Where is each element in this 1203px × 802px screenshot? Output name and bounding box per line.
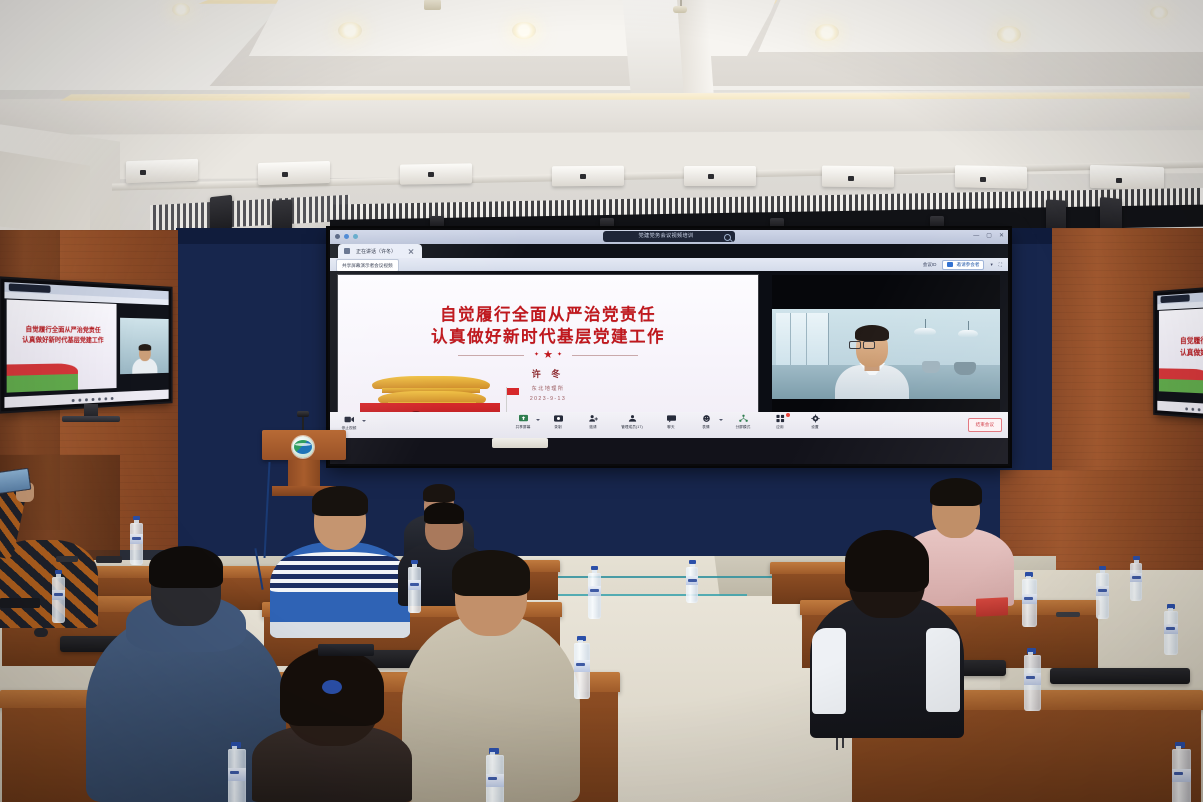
participant-video-frame bbox=[772, 309, 1000, 399]
toolbar-item-record[interactable]: 录制 bbox=[545, 414, 571, 430]
toolbar-item-apps[interactable]: 应用 bbox=[767, 414, 793, 430]
minimize-icon[interactable]: — bbox=[973, 232, 979, 240]
invite-participants-button[interactable]: 邀请参会者 bbox=[942, 260, 984, 270]
laptop bbox=[318, 644, 374, 656]
conference-room-photo: 党建党务会议视频培训 — ▢ ✕ 正在讲话（许冬） 共享屏幕 bbox=[0, 0, 1203, 802]
tiananmen-illustration bbox=[7, 363, 78, 392]
toolbar-label: 管理成员(17) bbox=[621, 425, 643, 430]
participant-video-tile[interactable]: 许 冬 bbox=[772, 275, 1000, 433]
toolbar-item-invite[interactable]: 邀请 bbox=[580, 414, 606, 430]
toolbar-item-emoji[interactable]: 表情 bbox=[693, 414, 719, 430]
track-spotlight bbox=[955, 165, 1027, 189]
apps-icon bbox=[775, 414, 786, 423]
toolbar-label: 分屏模式 bbox=[736, 425, 751, 430]
search-icon bbox=[724, 234, 731, 241]
audience-member-ponytail bbox=[252, 636, 412, 802]
toolbar-item-share-screen[interactable]: 共享屏幕 bbox=[510, 414, 536, 430]
window-title-text: 党建党务会议视频培训 bbox=[639, 233, 694, 239]
computer-mouse bbox=[34, 628, 48, 637]
star-ornament-icon: ✦ ★ ✦ bbox=[534, 348, 562, 361]
divider bbox=[458, 355, 524, 356]
record-icon bbox=[553, 414, 564, 423]
notification-badge bbox=[786, 413, 790, 417]
sub-toolbar-right: 会议ID 邀请参会者 ▾ ⛶ bbox=[923, 260, 1002, 270]
meeting-id-text: 会议ID bbox=[923, 262, 937, 268]
virtual-bg-object bbox=[922, 361, 940, 373]
expand-icon[interactable]: ⛶ bbox=[999, 262, 1002, 267]
shield-icon bbox=[335, 234, 340, 239]
audience-member-dark-vest bbox=[810, 508, 964, 738]
side-monitor-right: 自觉履行全 认真做好新 bbox=[1155, 287, 1203, 420]
toolbar-label: 录制 bbox=[554, 425, 561, 430]
toolbar-label: 设置 bbox=[811, 425, 818, 430]
side-monitor-slide: 自觉履行全面从严治党责任 认真做好新时代基层党建工作 bbox=[7, 300, 117, 393]
toolbar-label: 邀请 bbox=[589, 425, 596, 430]
track-spotlight bbox=[822, 166, 894, 188]
side-monitor-left-screen: 自觉履行全面从严治党责任 认真做好新时代基层党建工作 bbox=[4, 282, 168, 408]
tab-bar: 正在讲话（许冬） bbox=[330, 244, 1008, 258]
acoustic-slat-panel bbox=[150, 195, 350, 231]
ceiling-downlight bbox=[512, 22, 536, 39]
track-spotlight bbox=[400, 163, 472, 184]
remote-control bbox=[96, 556, 122, 563]
end-meeting-button[interactable]: 结束会议 bbox=[968, 418, 1002, 432]
white-sleeve bbox=[926, 628, 960, 712]
glasses-icon bbox=[849, 341, 861, 349]
red-folder bbox=[976, 597, 1008, 617]
ceiling-speaker bbox=[930, 216, 944, 228]
toolbar-label: 表情 bbox=[702, 425, 709, 430]
chevron-down-icon[interactable] bbox=[362, 420, 366, 422]
audience-member-striped-shirt bbox=[270, 478, 410, 638]
chair bbox=[1050, 668, 1190, 684]
track-spotlight bbox=[552, 166, 624, 187]
side-monitor-right-screen: 自觉履行全 认真做好新 bbox=[1157, 290, 1203, 416]
presenter-table bbox=[492, 438, 548, 448]
glasses-icon bbox=[863, 341, 875, 349]
smoke-detector-icon bbox=[424, 0, 441, 10]
invite-icon bbox=[947, 262, 953, 267]
white-sleeve bbox=[812, 628, 846, 714]
shared-slide: 自觉履行全面从严治党责任 认真做好新时代基层党建工作 ✦ ★ ✦ 许 冬 东北地… bbox=[338, 275, 758, 433]
toolbar-item-settings[interactable]: 设置 bbox=[802, 414, 828, 430]
slide-title-line1: 自觉履行全面从严治党责任 bbox=[338, 301, 758, 325]
side-monitor-left: 自觉履行全面从严治党责任 认真做好新时代基层党建工作 bbox=[1, 279, 171, 412]
led-video-wall: 党建党务会议视频培训 — ▢ ✕ 正在讲话（许冬） 共享屏幕 bbox=[328, 228, 1010, 466]
side-slide-title2: 认真做好新时代基层党建工作 bbox=[7, 334, 117, 344]
track-spotlight bbox=[684, 166, 756, 186]
video-camera-icon bbox=[344, 415, 355, 424]
ceiling-downlight bbox=[1150, 6, 1168, 19]
ceiling-downlight bbox=[172, 3, 190, 16]
side-monitor-slide: 自觉履行全 认真做好新 bbox=[1159, 307, 1203, 395]
app-sub-toolbar: 共享屏幕演示者会议视频 会议ID 邀请参会者 ▾ ⛶ bbox=[330, 258, 1008, 271]
app-title-bar: 党建党务会议视频培训 — ▢ ✕ bbox=[330, 230, 1008, 244]
microphone-icon bbox=[297, 411, 309, 417]
ceiling-downlight bbox=[997, 26, 1021, 43]
ceiling bbox=[0, 0, 1203, 232]
chat-icon bbox=[666, 414, 677, 423]
maximize-icon[interactable]: ▢ bbox=[986, 232, 992, 240]
track-spotlight bbox=[258, 161, 330, 185]
tab-active-speaker[interactable]: 正在讲话（许冬） bbox=[338, 244, 422, 258]
toolbar-label: 共享屏幕 bbox=[516, 425, 531, 430]
globe-emblem-logo bbox=[292, 436, 314, 458]
tab-label: 正在讲话（许冬） bbox=[356, 248, 396, 255]
globe-icon bbox=[344, 234, 349, 239]
hair-tie bbox=[322, 680, 342, 694]
invite-button-label: 邀请参会者 bbox=[956, 262, 979, 268]
layout-icon bbox=[738, 414, 749, 423]
chevron-down-icon[interactable]: ▾ bbox=[990, 262, 992, 268]
side-slide-title2: 认真做好新 bbox=[1159, 347, 1203, 359]
toolbar-item-chat[interactable]: 聊天 bbox=[658, 414, 684, 430]
share-screen-icon bbox=[518, 414, 529, 423]
track-spotlight bbox=[126, 159, 198, 184]
ceiling-sensor-icon bbox=[673, 6, 687, 13]
participant-figure bbox=[827, 323, 917, 399]
settings-gear-icon bbox=[810, 414, 821, 423]
toolbar-item-stop-video[interactable]: 停止视频 bbox=[336, 415, 362, 431]
virtual-bg-object bbox=[954, 362, 976, 375]
side-slide-title1: 自觉履行全面从严治党责任 bbox=[7, 323, 117, 334]
toolbar-label: 应用 bbox=[776, 425, 783, 430]
toolbar-item-layout[interactable]: 分屏模式 bbox=[728, 414, 758, 430]
ceiling-downlight bbox=[815, 24, 839, 41]
divider bbox=[572, 355, 638, 356]
ceiling-speaker bbox=[430, 216, 444, 228]
side-monitor-toolbar-icons bbox=[1185, 407, 1203, 411]
laptop bbox=[0, 598, 40, 608]
meeting-content-area: 自觉履行全面从严治党责任 认真做好新时代基层党建工作 ✦ ★ ✦ 许 冬 东北地… bbox=[330, 271, 1008, 438]
track-spotlight bbox=[1090, 165, 1164, 190]
toolbar-center-group: 共享屏幕 录制 bbox=[510, 414, 828, 430]
stationery bbox=[1056, 612, 1080, 617]
emoji-icon bbox=[701, 414, 712, 423]
side-monitor-video-tile bbox=[120, 318, 169, 374]
slide-title-line2: 认真做好新时代基层党建工作 bbox=[338, 323, 758, 347]
window-title-search[interactable]: 党建党务会议视频培训 bbox=[603, 231, 735, 242]
close-icon[interactable]: ✕ bbox=[999, 232, 1004, 240]
microphone-stand bbox=[302, 416, 304, 430]
meeting-app-window: 党建党务会议视频培训 — ▢ ✕ 正在讲话（许冬） 共享屏幕 bbox=[330, 230, 1008, 464]
window-controls[interactable]: — ▢ ✕ bbox=[973, 232, 1004, 240]
signal-icon bbox=[353, 234, 358, 239]
ceiling-speaker bbox=[210, 195, 232, 231]
close-icon[interactable] bbox=[408, 248, 414, 254]
side-monitor-toolbar-bottom bbox=[1157, 401, 1203, 416]
remote-control bbox=[56, 556, 78, 562]
ceiling-downlight bbox=[338, 22, 362, 39]
pendant-lamp-icon bbox=[958, 321, 978, 339]
tab-favicon-icon bbox=[344, 248, 350, 254]
toolbar-left-group: 停止视频 bbox=[336, 415, 362, 431]
tiananmen-illustration bbox=[1159, 368, 1203, 393]
monitor-base bbox=[62, 416, 120, 422]
meeting-toolbar: 停止视频 共享屏幕 bbox=[330, 412, 1008, 438]
toolbar-label: 聊天 bbox=[667, 425, 674, 430]
side-monitor-toolbar-icons bbox=[72, 397, 114, 402]
members-icon bbox=[627, 414, 638, 423]
invite-icon bbox=[588, 414, 599, 423]
toolbar-item-manage-members[interactable]: 管理成员(17) bbox=[615, 414, 649, 430]
chevron-down-icon[interactable] bbox=[536, 419, 540, 421]
chevron-down-icon[interactable] bbox=[719, 419, 723, 421]
app-status-icons bbox=[335, 234, 358, 239]
side-slide-title1: 自觉履行全 bbox=[1159, 334, 1203, 346]
